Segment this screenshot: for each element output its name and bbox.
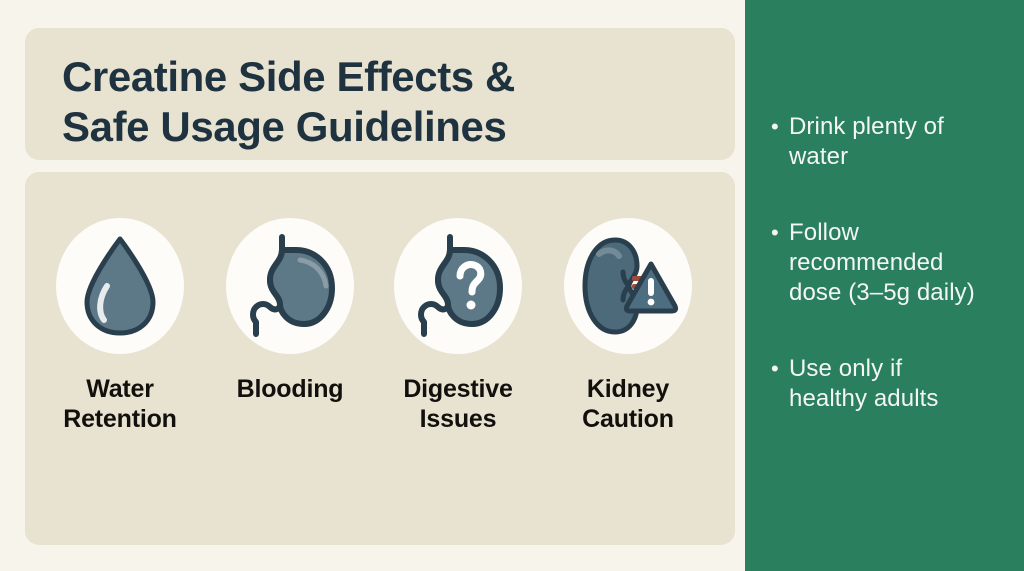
icon-circle [56,218,184,354]
side-effect-label: Kidney Caution [552,374,704,434]
water-droplet-icon [77,234,163,338]
bullet-dot-icon: • [771,112,789,142]
side-effect-label: Digestive Issues [382,374,534,434]
infographic-canvas: Creatine Side Effects & Safe Usage Guide… [0,0,1024,571]
bullet-dot-icon: • [771,218,789,248]
guidelines-list: • Drink plenty of water • Follow recomme… [771,112,1024,460]
side-effects-grid: Water Retention Blooding [25,172,735,545]
side-effect-item-digestive-issues: Digestive Issues [382,218,534,434]
side-effect-item-blooding: Blooding [214,218,366,404]
stomach-question-mark-icon [408,232,508,340]
side-effect-item-water-retention: Water Retention [44,218,196,434]
side-effects-card: Water Retention Blooding [25,172,735,545]
guideline-text: Use only if healthy adults [789,354,1024,414]
kidney-warning-icon [575,234,681,338]
list-item: • Follow recommended dose (3–5g daily) [771,218,1024,308]
stomach-icon [240,232,340,340]
guideline-text: Follow recommended dose (3–5g daily) [789,218,1024,308]
icon-circle [564,218,692,354]
side-effect-label: Blooding [214,374,366,404]
page-title: Creatine Side Effects & Safe Usage Guide… [62,52,702,152]
icon-circle [226,218,354,354]
list-item: • Use only if healthy adults [771,354,1024,414]
icon-circle [394,218,522,354]
guideline-text: Drink plenty of water [789,112,1024,172]
title-card: Creatine Side Effects & Safe Usage Guide… [25,28,735,160]
bullet-dot-icon: • [771,354,789,384]
side-effect-item-kidney-caution: Kidney Caution [552,218,704,434]
list-item: • Drink plenty of water [771,112,1024,172]
guidelines-panel: • Drink plenty of water • Follow recomme… [745,0,1024,571]
side-effect-label: Water Retention [44,374,196,434]
